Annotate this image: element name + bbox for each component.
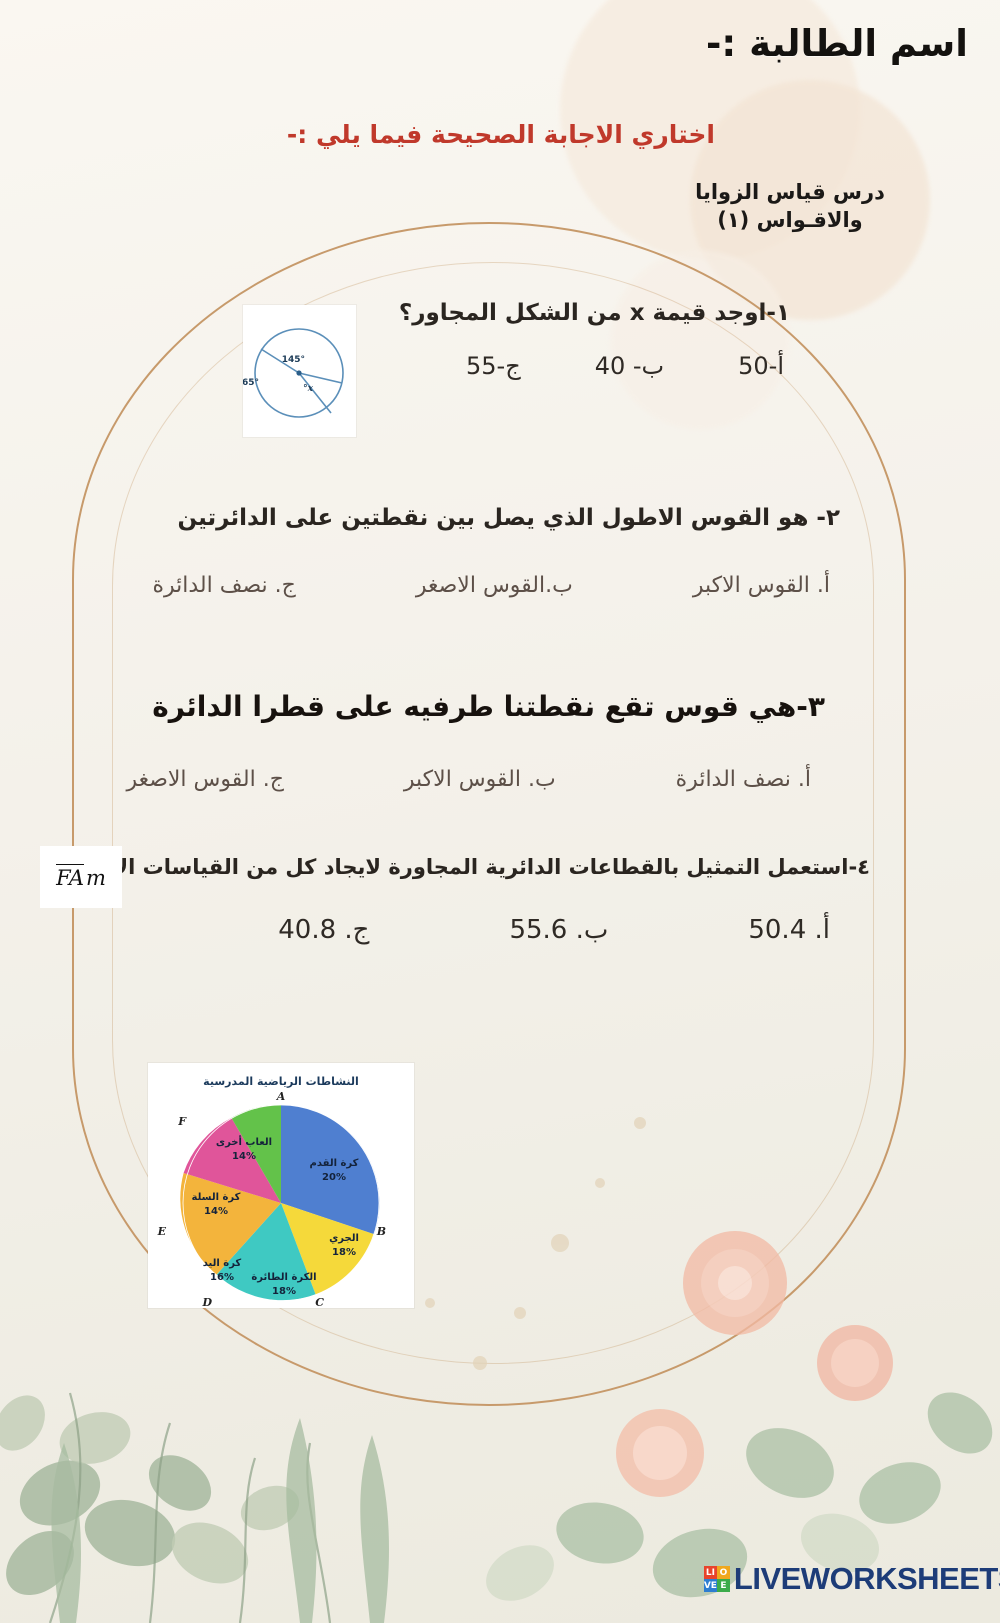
pie-slice-label-handball: كرة اليد — [203, 1258, 242, 1269]
pie-slice-label-football: كرة القدم — [310, 1158, 359, 1169]
pie-slice-value-volleyball: 18% — [272, 1286, 296, 1297]
question-3-text: ٣-هي قوس تقع نقطتنا طرفيه على قطرا الدائ… — [126, 690, 825, 723]
logo-cube-e: E — [717, 1579, 730, 1592]
logo-cube-o: O — [717, 1566, 730, 1579]
pie-point-label-A: A — [276, 1090, 286, 1103]
question-2-option-b[interactable]: ب.القوس الاصغر — [416, 573, 573, 598]
arc-notation-label: mFA — [56, 864, 106, 890]
question-1-option-b[interactable]: ب- 40 — [595, 352, 664, 380]
question-2-options: أ. القوس الاكبر ب.القوس الاصغر ج. نصف ال… — [152, 573, 840, 598]
pie-slice-label-running: الجري — [329, 1233, 359, 1244]
pie-slice-label-other: العاب أخرى — [216, 1135, 272, 1148]
question-3: ٣-هي قوس تقع نقطتنا طرفيه على قطرا الدائ… — [126, 690, 825, 792]
worksheet-content: اسم الطالبة :- اختاري الاجابة الصحيحة في… — [0, 0, 1000, 1623]
question-4-text: ٤-استعمل التمثيل بالقطاعات الدائرية المج… — [83, 855, 870, 879]
logo-cube-ve: VE — [704, 1579, 717, 1592]
pie-point-label-D: D — [201, 1296, 212, 1308]
svg-text:145°: 145° — [282, 355, 305, 365]
pie-slice-value-handball: 16% — [210, 1272, 234, 1283]
pie-point-label-B: B — [376, 1225, 386, 1238]
liveworksheets-logo[interactable]: LI O VE E LIVEWORKSHEETS — [704, 1561, 1000, 1597]
pie-slice-label-volleyball: الكرة الطائرة — [251, 1272, 316, 1283]
question-4-option-a[interactable]: أ. 50.4 — [748, 915, 830, 945]
pie-slice-value-basketball: 14% — [204, 1206, 228, 1217]
student-name-label: اسم الطالبة :- — [706, 22, 968, 65]
question-2-option-c[interactable]: ج. نصف الدائرة — [152, 573, 295, 598]
arc-overbar: FA — [56, 864, 84, 890]
question-1-figure: 145° 165° x° — [243, 305, 356, 437]
footer: LI O VE E LIVEWORKSHEETS — [0, 1561, 1000, 1597]
question-4-option-b[interactable]: ب. 55.6 — [509, 915, 608, 945]
arc-notation-figure: mFA — [40, 846, 122, 908]
logo-wordmark: LIVEWORKSHEETS — [734, 1561, 1000, 1597]
sports-activities-pie-chart: النشاطات الرياضية المدرسية A B C D E F — [148, 1063, 414, 1308]
question-1-text: ١-اوجد قيمة x من الشكل المجاور؟ — [399, 300, 790, 326]
pie-point-label-E: E — [157, 1225, 167, 1238]
logo-cubes-icon: LI O VE E — [704, 1566, 730, 1592]
pie-slice-value-other: 14% — [232, 1151, 256, 1162]
circle-angles-diagram: 145° 165° x° — [243, 305, 356, 437]
pie-slice-label-basketball: كرة السلة — [192, 1192, 241, 1203]
svg-text:x°: x° — [303, 384, 314, 394]
question-4-options: أ. 50.4 ب. 55.6 ج. 40.8 — [83, 915, 870, 945]
pie-point-label-C: C — [315, 1296, 324, 1308]
question-4: ٤-استعمل التمثيل بالقطاعات الدائرية المج… — [83, 855, 870, 945]
question-1-options: أ-50 ب- 40 ج-55 — [399, 352, 790, 380]
question-3-option-a[interactable]: أ. نصف الدائرة — [676, 767, 811, 792]
question-2: ٢- هو القوس الاطول الذي يصل بين نقطتين ع… — [152, 505, 840, 598]
svg-text:165°: 165° — [243, 378, 259, 388]
logo-cube-li: LI — [704, 1566, 717, 1579]
pie-point-label-F: F — [177, 1115, 187, 1128]
instruction-text: اختاري الاجابة الصحيحة فيما يلي :- — [287, 120, 715, 149]
pie-slice-value-football: 20% — [322, 1172, 346, 1183]
question-3-options: أ. نصف الدائرة ب. القوس الاكبر ج. القوس … — [126, 767, 825, 792]
question-3-option-b[interactable]: ب. القوس الاكبر — [404, 767, 556, 792]
question-4-option-c[interactable]: ج. 40.8 — [278, 915, 369, 945]
question-2-option-a[interactable]: أ. القوس الاكبر — [693, 573, 830, 598]
question-1: ١-اوجد قيمة x من الشكل المجاور؟ أ-50 ب- … — [399, 300, 790, 380]
pie-slice-value-running: 18% — [332, 1247, 356, 1258]
question-1-option-c[interactable]: ج-55 — [466, 352, 521, 380]
question-3-option-c[interactable]: ج. القوس الاصغر — [126, 767, 283, 792]
question-2-text: ٢- هو القوس الاطول الذي يصل بين نقطتين ع… — [152, 505, 840, 531]
lesson-title: درس قياس الزوايا والاقـواس (١) — [640, 178, 940, 235]
question-1-option-a[interactable]: أ-50 — [738, 352, 784, 380]
pie-chart-title: النشاطات الرياضية المدرسية — [203, 1075, 359, 1088]
pie-chart-figure: النشاطات الرياضية المدرسية A B C D E F — [148, 1063, 414, 1308]
